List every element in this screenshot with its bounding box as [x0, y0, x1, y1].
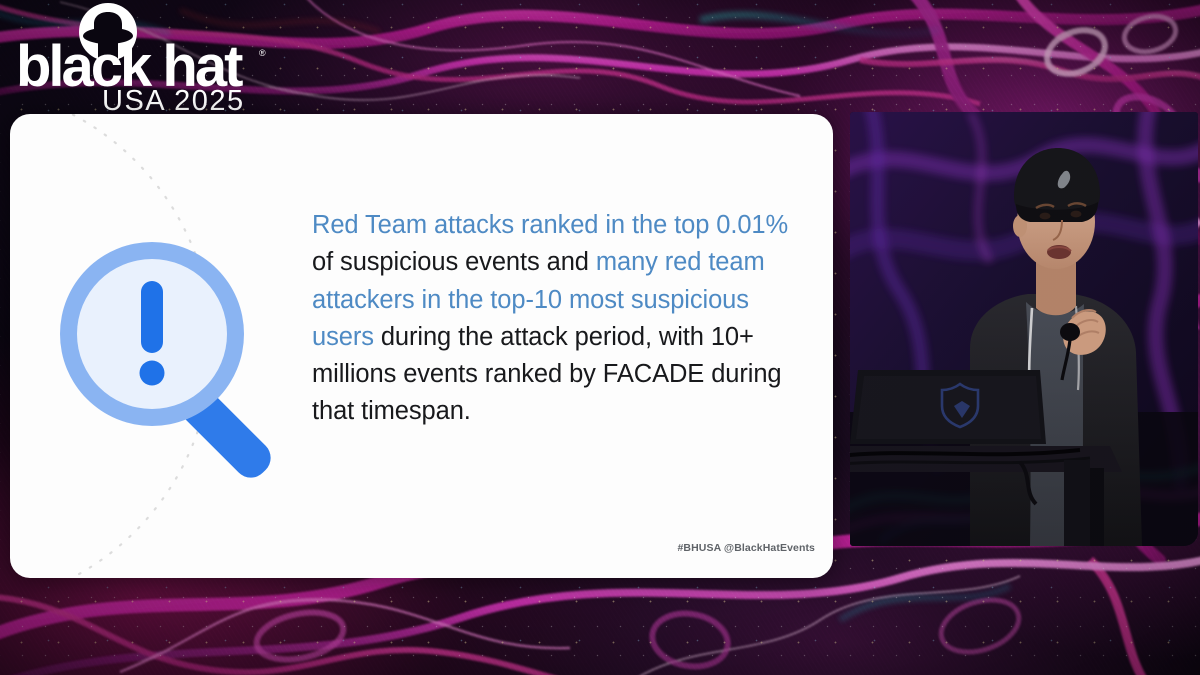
speaker-scene [850, 112, 1198, 546]
body-segment-1: of suspicious events and [312, 248, 596, 276]
speaker-video-frame [850, 112, 1198, 546]
slide-card: Red Team attacks ranked in the top 0.01%… [10, 114, 833, 578]
black-hat-logo-mark: black hat ® USA 2025 [12, 2, 284, 114]
body-segment-0: Red Team attacks ranked in the top 0.01% [312, 211, 788, 239]
registered-mark: ® [259, 48, 266, 58]
magnifier-alert-icon [48, 184, 298, 514]
brand-year: USA 2025 [102, 85, 245, 114]
slide-body-text: Red Team attacks ranked in the top 0.01%… [312, 207, 812, 431]
presentation-stage: black hat ® USA 2025 Red Team attacks ra… [0, 0, 1200, 675]
speaker-video-panel[interactable] [850, 112, 1198, 546]
body-segment-3: during the attack period, with 10+ milli… [312, 323, 781, 426]
black-hat-logo: black hat ® USA 2025 [12, 2, 284, 114]
exclamation-icon [140, 281, 165, 386]
slide-footer-hashtag: #BHUSA @BlackHatEvents [677, 542, 815, 554]
